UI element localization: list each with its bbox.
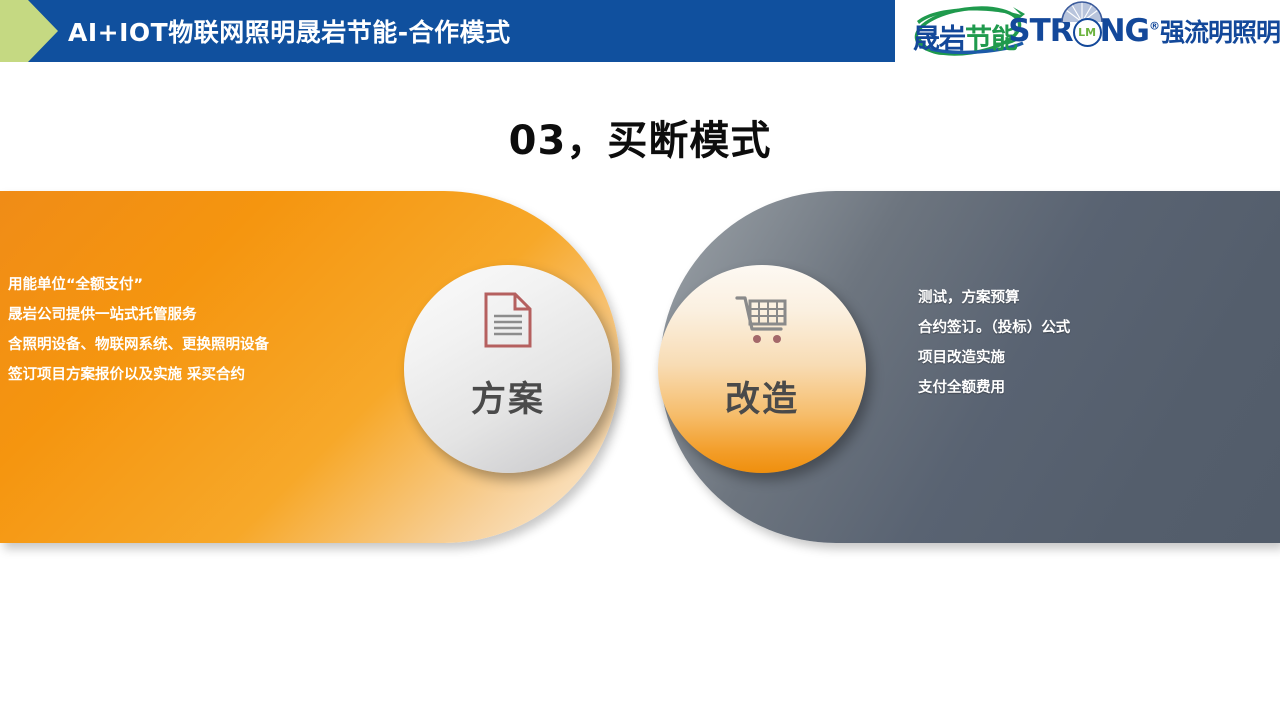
top-banner: AI+IOT物联网照明晟岩节能-合作模式 晟岩节能 [0,0,1280,62]
registered-trademark-icon: ® [1149,20,1159,33]
logo-english-brand: STRLMNG® 强流明照明 [1008,5,1280,57]
circle-retrofit[interactable]: 改造 [658,265,866,473]
logo-chinese-subtitle: 强流明照明 [1160,13,1280,49]
logo-strong-post: NG [1100,13,1149,49]
circle-retrofit-label: 改造 [725,371,799,422]
right-panel-line-3: 项目改造实施 [918,343,1248,373]
shopping-cart-icon [734,291,790,349]
document-icon [482,291,534,349]
circle-plan[interactable]: 方案 [404,265,612,473]
logo-chinese-brand: 晟岩节能 [909,5,1006,57]
right-panel-text: 测试，方案预算 合约签订。（投标）公式 项目改造实施 支付全额费用 [918,283,1248,403]
chevron-right-icon [0,0,60,62]
right-panel-line-1: 测试，方案预算 [918,283,1248,313]
circle-plan-label: 方案 [471,371,545,422]
logo-strong-wordmark: STRLMNG® [1008,13,1159,49]
company-logo: 晟岩节能 STRLMNG® 强流明照明 [895,0,1280,62]
right-panel-line-2: 合约签订。（投标）公式 [918,313,1248,343]
left-panel-line-2: 晟岩公司提供一站式托管服务 [8,300,348,330]
left-panel-line-3: 含照明设备、物联网系统、更换照明设备 [8,330,348,360]
left-panel-text: 用能单位“全额支付” 晟岩公司提供一站式托管服务 含照明设备、物联网系统、更换照… [8,270,348,390]
logo-o-badge: LM [1073,18,1100,45]
logo-chinese-text: 晟岩节能 [913,17,1017,56]
left-panel-line-1: 用能单位“全额支付” [8,270,348,300]
right-panel-line-4: 支付全额费用 [918,373,1248,403]
banner-title: AI+IOT物联网照明晟岩节能-合作模式 [68,0,511,62]
page-title: 03，买断模式 [0,108,1280,166]
left-panel-line-4: 签订项目方案报价以及实施 采买合约 [8,360,348,390]
